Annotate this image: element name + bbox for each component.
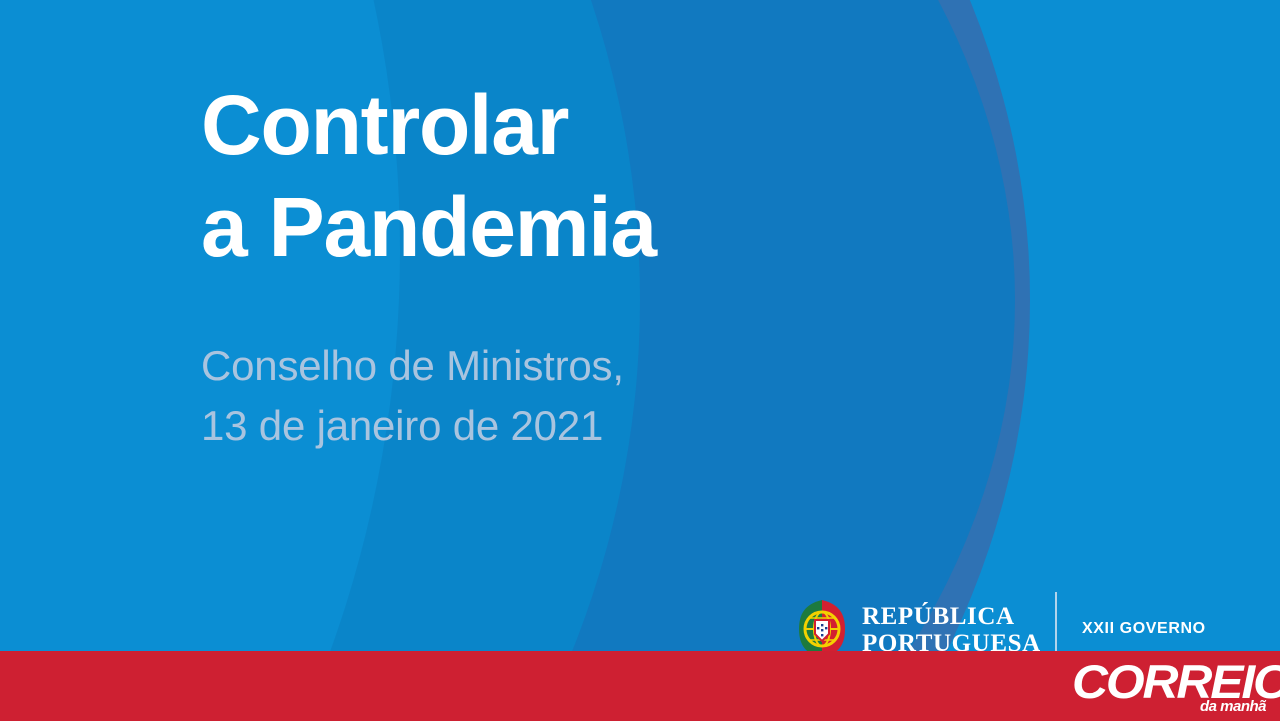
subtitle-line-1: Conselho de Ministros, (201, 336, 901, 396)
governo-label: XXII GOVERNO (1082, 620, 1206, 638)
page-title: Controlar a Pandemia (201, 74, 901, 279)
title-line-2: a Pandemia (201, 176, 901, 278)
logo-divider (1055, 592, 1057, 652)
correio-wordmark: CORREIO (1072, 660, 1280, 703)
page-subtitle: Conselho de Ministros, 13 de janeiro de … (201, 336, 901, 457)
correio-da-manha-logo: CORREIO da manhã (1072, 660, 1268, 714)
republica-line-1: REPÚBLICA (862, 603, 1041, 630)
subtitle-line-2: 13 de janeiro de 2021 (201, 396, 901, 456)
da-manha-wordmark: da manhã (1200, 698, 1266, 715)
title-line-1: Controlar (201, 74, 901, 176)
republica-portuguesa-label: REPÚBLICA PORTUGUESA (862, 603, 1041, 657)
presentation-slide: Controlar a Pandemia Conselho de Ministr… (0, 0, 1280, 721)
